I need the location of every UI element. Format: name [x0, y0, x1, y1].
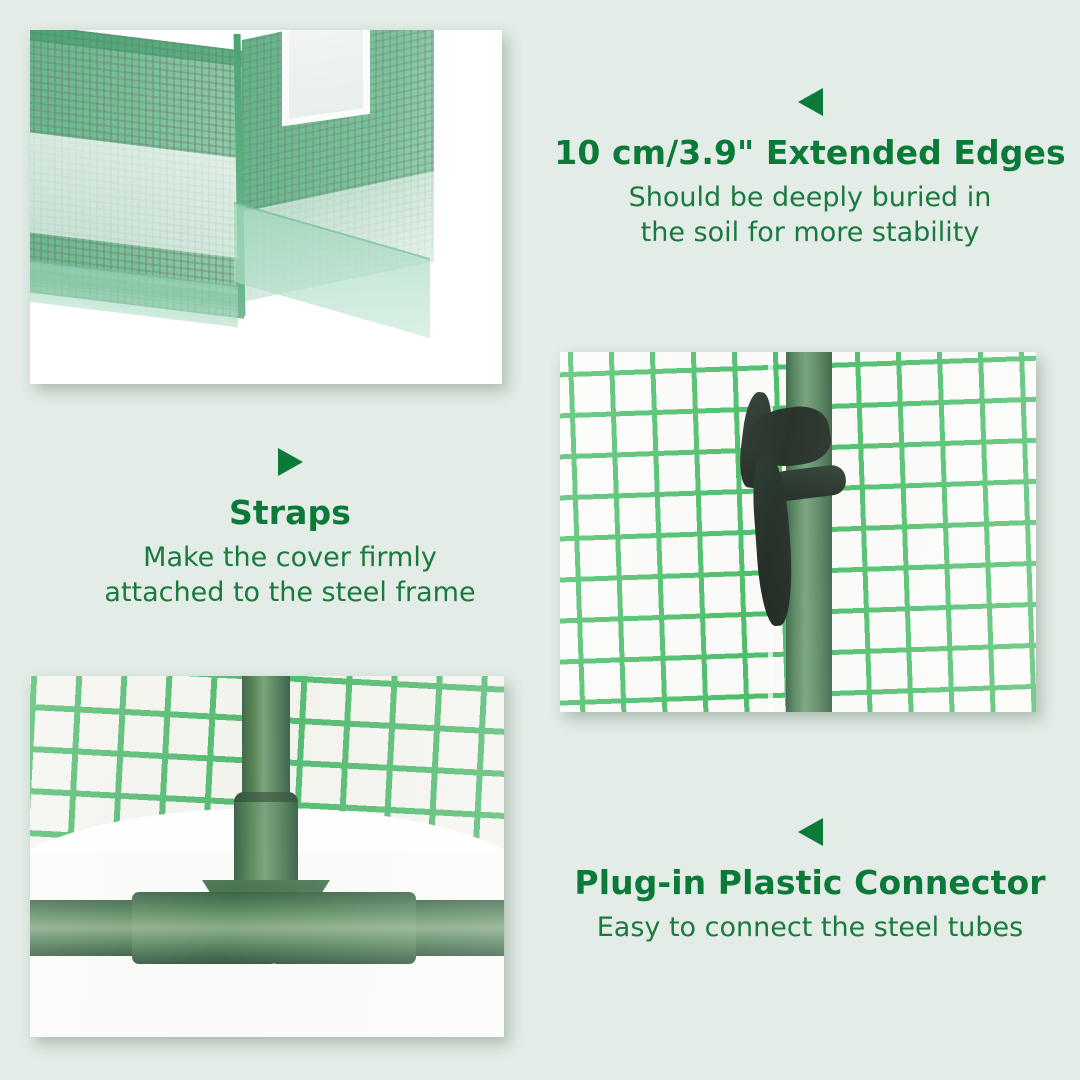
- connector-sleeve-left: [132, 892, 278, 964]
- connector-sleeve-right: [270, 892, 416, 964]
- triangle-left-icon: [798, 818, 823, 846]
- subtitle-line-2: the soil for more stability: [641, 217, 980, 248]
- cover-top-hem: [30, 30, 244, 67]
- feature-title-extended-edges: 10 cm/3.9" Extended Edges: [540, 134, 1080, 172]
- feature-text-connector: Plug-in Plastic Connector Easy to connec…: [540, 818, 1080, 945]
- subtitle-line-1: Make the cover firmly: [143, 542, 437, 573]
- feature-text-extended-edges: 10 cm/3.9" Extended Edges Should be deep…: [540, 88, 1080, 250]
- feature-subtitle-extended-edges: Should be deeply buried in the soil for …: [540, 180, 1080, 250]
- feature-title-connector: Plug-in Plastic Connector: [540, 864, 1080, 902]
- cover-translucent-band: [30, 132, 244, 259]
- feature-text-straps: Straps Make the cover firmly attached to…: [40, 448, 540, 610]
- strap-tied-to-pole-photo: [560, 352, 1036, 712]
- greenhouse-cover-body: [30, 30, 430, 314]
- t-connector-steel-tube-photo: [30, 676, 504, 1037]
- feature-subtitle-straps: Make the cover firmly attached to the st…: [40, 540, 540, 610]
- subtitle-line-2: attached to the steel frame: [104, 577, 475, 608]
- infographic-canvas: 10 cm/3.9" Extended Edges Should be deep…: [0, 0, 1080, 1080]
- triangle-left-icon: [798, 88, 823, 116]
- greenhouse-corner-extended-edge-photo: [30, 30, 502, 384]
- subtitle-line-1: Should be deeply buried in: [629, 182, 992, 213]
- triangle-right-icon: [278, 448, 303, 476]
- feature-subtitle-connector: Easy to connect the steel tubes: [540, 910, 1080, 945]
- feature-title-straps: Straps: [40, 494, 540, 532]
- cover-window: [282, 30, 370, 126]
- socket-lip: [234, 792, 298, 802]
- photo-backdrop: [30, 30, 502, 384]
